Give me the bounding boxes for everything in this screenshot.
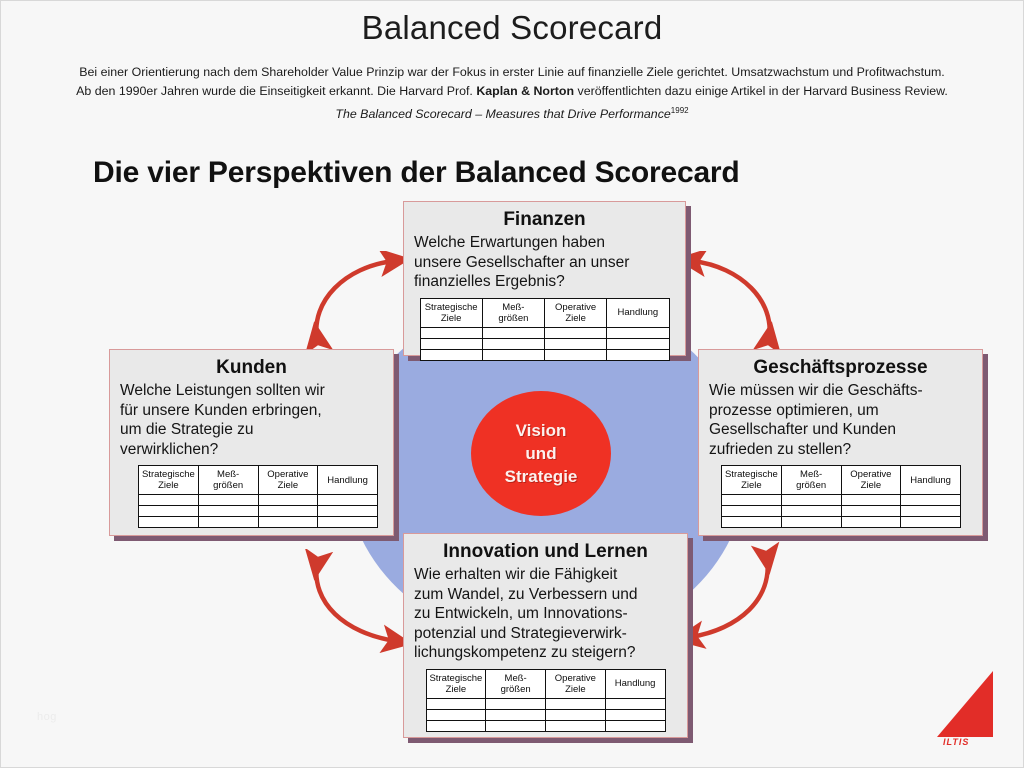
table-row[interactable] [139, 517, 378, 528]
col-label-line2: Ziele [547, 684, 604, 695]
perspective-line: Welche Erwartungen haben [414, 233, 675, 253]
table-row[interactable] [139, 495, 378, 506]
col-messgroessen: Meß-größen [486, 669, 546, 698]
table-cell[interactable] [545, 338, 607, 349]
intro-line-3-citation: The Balanced Scorecard – Measures that D… [1, 101, 1023, 124]
table-header-row: StrategischeZiele Meß-größen OperativeZi… [139, 466, 378, 495]
table-cell[interactable] [482, 338, 544, 349]
perspective-line: zufrieden zu stellen? [709, 440, 972, 460]
table-body [426, 698, 665, 731]
col-messgroessen: Meß-größen [482, 298, 544, 327]
col-operative-ziele: OperativeZiele [258, 466, 318, 495]
table-cell[interactable] [318, 506, 378, 517]
table-cell[interactable] [258, 517, 318, 528]
perspective-line: verwirklichen? [120, 440, 383, 460]
iltis-logo: ILTIS [933, 671, 1005, 749]
perspective-line: zum Wandel, zu Verbessern und [414, 585, 677, 605]
citation-year: 1992 [671, 106, 689, 115]
table-cell[interactable] [781, 506, 841, 517]
arrow-top-left-icon [297, 251, 417, 355]
perspective-description: Welche Leistungen sollten wir für unsere… [120, 381, 383, 459]
perspective-line: unsere Gesellschafter an unser [414, 253, 675, 273]
perspective-card-geschaeftsprozesse[interactable]: Geschäftsprozesse Wie müssen wir die Ges… [698, 349, 983, 536]
perspective-line: Wie erhalten wir die Fähigkeit [414, 565, 677, 585]
logo-brand-label: ILTIS [943, 737, 969, 747]
perspective-title: Innovation und Lernen [414, 540, 677, 564]
col-label-line1: Operative [546, 302, 605, 313]
table-cell[interactable] [420, 327, 482, 338]
table-cell[interactable] [486, 698, 546, 709]
table-row[interactable] [426, 709, 665, 720]
vision-line-3: Strategie [505, 467, 578, 487]
scorecard-table[interactable]: StrategischeZiele Meß-größen OperativeZi… [426, 669, 666, 732]
col-label-line1: Strategische [140, 469, 197, 480]
table-cell[interactable] [139, 495, 199, 506]
col-label-line1: Operative [260, 469, 317, 480]
table-cell[interactable] [139, 517, 199, 528]
perspective-line: finanzielles Ergebnis? [414, 272, 675, 292]
table-cell[interactable] [482, 349, 544, 360]
table-cell[interactable] [901, 506, 961, 517]
intro-paragraph: Bei einer Orientierung nach dem Sharehol… [1, 63, 1023, 124]
section-heading: Die vier Perspektiven der Balanced Score… [93, 156, 740, 190]
col-label-line1: Strategische [422, 302, 481, 313]
watermark-text: hog [37, 711, 57, 723]
table-row[interactable] [722, 517, 961, 528]
col-label-line2: größen [484, 313, 543, 324]
col-label-line1: Operative [843, 469, 900, 480]
table-header-row: StrategischeZiele Meß-größen OperativeZi… [420, 298, 669, 327]
arrow-bottom-left-icon [297, 549, 417, 653]
table-cell[interactable] [722, 506, 782, 517]
vision-strategy-circle: Vision und Strategie [471, 391, 611, 516]
table-cell[interactable] [420, 338, 482, 349]
vision-line-2: und [525, 444, 556, 464]
perspective-line: um die Strategie zu [120, 420, 383, 440]
col-handlung: Handlung [318, 466, 378, 495]
sail-triangle-icon [937, 671, 993, 737]
table-cell[interactable] [318, 495, 378, 506]
table-cell[interactable] [607, 349, 669, 360]
col-strategische-ziele: StrategischeZiele [426, 669, 486, 698]
col-label-line1: Meß- [487, 673, 544, 684]
col-label-line2: größen [487, 684, 544, 695]
col-label-line2: größen [200, 480, 257, 491]
table-row[interactable] [139, 506, 378, 517]
perspective-description: Wie müssen wir die Geschäfts- prozesse o… [709, 381, 972, 459]
table-cell[interactable] [901, 517, 961, 528]
vision-line-1: Vision [516, 421, 567, 441]
col-operative-ziele: OperativeZiele [841, 466, 901, 495]
table-cell[interactable] [546, 720, 606, 731]
table-cell[interactable] [482, 327, 544, 338]
intro-line-1: Bei einer Orientierung nach dem Sharehol… [1, 63, 1023, 82]
table-cell[interactable] [841, 517, 901, 528]
perspective-line: Gesellschafter und Kunden [709, 420, 972, 440]
table-body [420, 327, 669, 360]
perspective-description: Welche Erwartungen haben unsere Gesellsc… [414, 233, 675, 292]
col-label-line2: größen [783, 480, 840, 491]
col-handlung: Handlung [605, 669, 665, 698]
table-body [139, 495, 378, 528]
intro-line-2-pre: Ab den 1990er Jahren wurde die Einseitig… [76, 84, 476, 98]
table-row[interactable] [420, 338, 669, 349]
perspective-title: Geschäftsprozesse [709, 356, 972, 380]
col-operative-ziele: OperativeZiele [545, 298, 607, 327]
table-cell[interactable] [426, 698, 486, 709]
col-handlung: Handlung [901, 466, 961, 495]
perspective-card-innovation-lernen[interactable]: Innovation und Lernen Wie erhalten wir d… [403, 533, 688, 738]
perspective-line: potenzial und Strategieverwirk- [414, 624, 677, 644]
table-row[interactable] [722, 495, 961, 506]
scorecard-table[interactable]: StrategischeZiele Meß-größen OperativeZi… [138, 465, 378, 528]
perspective-description: Wie erhalten wir die Fähigkeit zum Wande… [414, 565, 677, 663]
table-cell[interactable] [420, 349, 482, 360]
page-title: Balanced Scorecard [1, 9, 1023, 47]
col-label-line1: Handlung [607, 678, 664, 689]
col-label-line1: Handlung [319, 475, 376, 486]
slide-canvas: Balanced Scorecard Bei einer Orientierun… [0, 0, 1024, 768]
col-label-line2: Ziele [546, 313, 605, 324]
perspective-line: zu Entwickeln, um Innovations- [414, 604, 677, 624]
table-cell[interactable] [198, 517, 258, 528]
table-cell[interactable] [607, 338, 669, 349]
col-label-line1: Meß- [783, 469, 840, 480]
perspective-line: für unsere Kunden erbringen, [120, 401, 383, 421]
table-cell[interactable] [901, 495, 961, 506]
col-label-line1: Strategische [723, 469, 780, 480]
table-cell[interactable] [258, 506, 318, 517]
table-cell[interactable] [486, 720, 546, 731]
col-label-line1: Operative [547, 673, 604, 684]
col-operative-ziele: OperativeZiele [546, 669, 606, 698]
table-cell[interactable] [605, 698, 665, 709]
table-cell[interactable] [605, 720, 665, 731]
table-header-row: StrategischeZiele Meß-größen OperativeZi… [722, 466, 961, 495]
scorecard-table[interactable]: StrategischeZiele Meß-größen OperativeZi… [420, 298, 670, 361]
col-label-line1: Handlung [608, 307, 667, 318]
col-label-line1: Handlung [902, 475, 959, 486]
table-cell[interactable] [841, 495, 901, 506]
col-messgroessen: Meß-größen [198, 466, 258, 495]
perspective-title: Finanzen [414, 208, 675, 232]
table-row[interactable] [426, 720, 665, 731]
table-cell[interactable] [546, 709, 606, 720]
col-messgroessen: Meß-größen [781, 466, 841, 495]
perspective-line: Welche Leistungen sollten wir [120, 381, 383, 401]
table-cell[interactable] [722, 517, 782, 528]
col-label-line2: Ziele [422, 313, 481, 324]
table-row[interactable] [420, 349, 669, 360]
table-cell[interactable] [722, 495, 782, 506]
perspective-line: Wie müssen wir die Geschäfts- [709, 381, 972, 401]
col-label-line2: Ziele [428, 684, 485, 695]
table-cell[interactable] [198, 506, 258, 517]
table-cell[interactable] [545, 349, 607, 360]
col-label-line2: Ziele [140, 480, 197, 491]
table-cell[interactable] [781, 517, 841, 528]
col-label-line2: Ziele [723, 480, 780, 491]
citation-title: The Balanced Scorecard – Measures that D… [335, 107, 670, 121]
table-cell[interactable] [318, 517, 378, 528]
table-cell[interactable] [426, 709, 486, 720]
perspective-title: Kunden [120, 356, 383, 380]
intro-line-2-post: veröffentlichten dazu einige Artikel in … [574, 84, 948, 98]
perspective-line: lichungskompetenz zu steigern? [414, 643, 677, 663]
perspective-card-finanzen[interactable]: Finanzen Welche Erwartungen haben unsere… [403, 201, 686, 356]
col-label-line1: Meß- [200, 469, 257, 480]
authors-kaplan-norton: Kaplan & Norton [476, 84, 574, 98]
col-strategische-ziele: StrategischeZiele [420, 298, 482, 327]
arrow-top-right-icon [669, 251, 789, 355]
col-label-line2: Ziele [260, 480, 317, 491]
table-cell[interactable] [258, 495, 318, 506]
col-strategische-ziele: StrategischeZiele [139, 466, 199, 495]
table-cell[interactable] [607, 327, 669, 338]
col-label-line1: Strategische [428, 673, 485, 684]
intro-line-2: Ab den 1990er Jahren wurde die Einseitig… [1, 82, 1023, 101]
table-cell[interactable] [426, 720, 486, 731]
table-cell[interactable] [546, 698, 606, 709]
table-row[interactable] [426, 698, 665, 709]
table-cell[interactable] [139, 506, 199, 517]
table-cell[interactable] [841, 506, 901, 517]
perspective-line: prozesse optimieren, um [709, 401, 972, 421]
col-handlung: Handlung [607, 298, 669, 327]
col-label-line2: Ziele [843, 480, 900, 491]
table-row[interactable] [722, 506, 961, 517]
table-cell[interactable] [605, 709, 665, 720]
perspective-card-kunden[interactable]: Kunden Welche Leistungen sollten wir für… [109, 349, 394, 536]
table-cell[interactable] [486, 709, 546, 720]
table-cell[interactable] [781, 495, 841, 506]
table-header-row: StrategischeZiele Meß-größen OperativeZi… [426, 669, 665, 698]
col-label-line1: Meß- [484, 302, 543, 313]
table-cell[interactable] [545, 327, 607, 338]
table-cell[interactable] [198, 495, 258, 506]
table-row[interactable] [420, 327, 669, 338]
col-strategische-ziele: StrategischeZiele [722, 466, 782, 495]
table-body [722, 495, 961, 528]
scorecard-table[interactable]: StrategischeZiele Meß-größen OperativeZi… [721, 465, 961, 528]
